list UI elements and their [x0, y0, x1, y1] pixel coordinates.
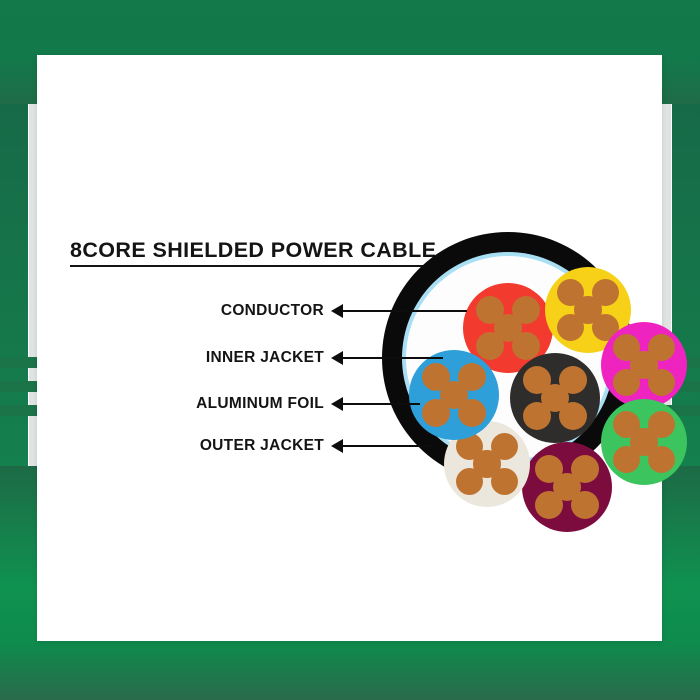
- arrow-left-icon: [331, 351, 343, 365]
- arrow-left-icon: [331, 304, 343, 318]
- poster-canvas: 8CORE SHIELDED POWER CABLE CONDUCTOR INN…: [0, 0, 700, 700]
- callout-inner-jacket: INNER JACKET: [190, 347, 343, 369]
- arrow-left-icon: [331, 397, 343, 411]
- leader-outer-jacket: [343, 445, 430, 447]
- leader-aluminum-foil: [343, 403, 420, 405]
- callout-conductor: CONDUCTOR: [205, 300, 343, 322]
- leader-conductor: [343, 310, 467, 312]
- callout-aluminum-foil: ALUMINUM FOIL: [183, 393, 343, 415]
- callout-outer-jacket-label: OUTER JACKET: [200, 437, 324, 455]
- callout-conductor-label: CONDUCTOR: [221, 302, 324, 320]
- leader-inner-jacket: [343, 357, 443, 359]
- callout-group: CONDUCTOR INNER JACKET ALUMINUM FOIL OUT…: [0, 0, 700, 700]
- callout-outer-jacket: OUTER JACKET: [190, 435, 343, 457]
- callout-inner-jacket-label: INNER JACKET: [206, 349, 324, 367]
- callout-aluminum-foil-label: ALUMINUM FOIL: [196, 395, 324, 413]
- arrow-left-icon: [331, 439, 343, 453]
